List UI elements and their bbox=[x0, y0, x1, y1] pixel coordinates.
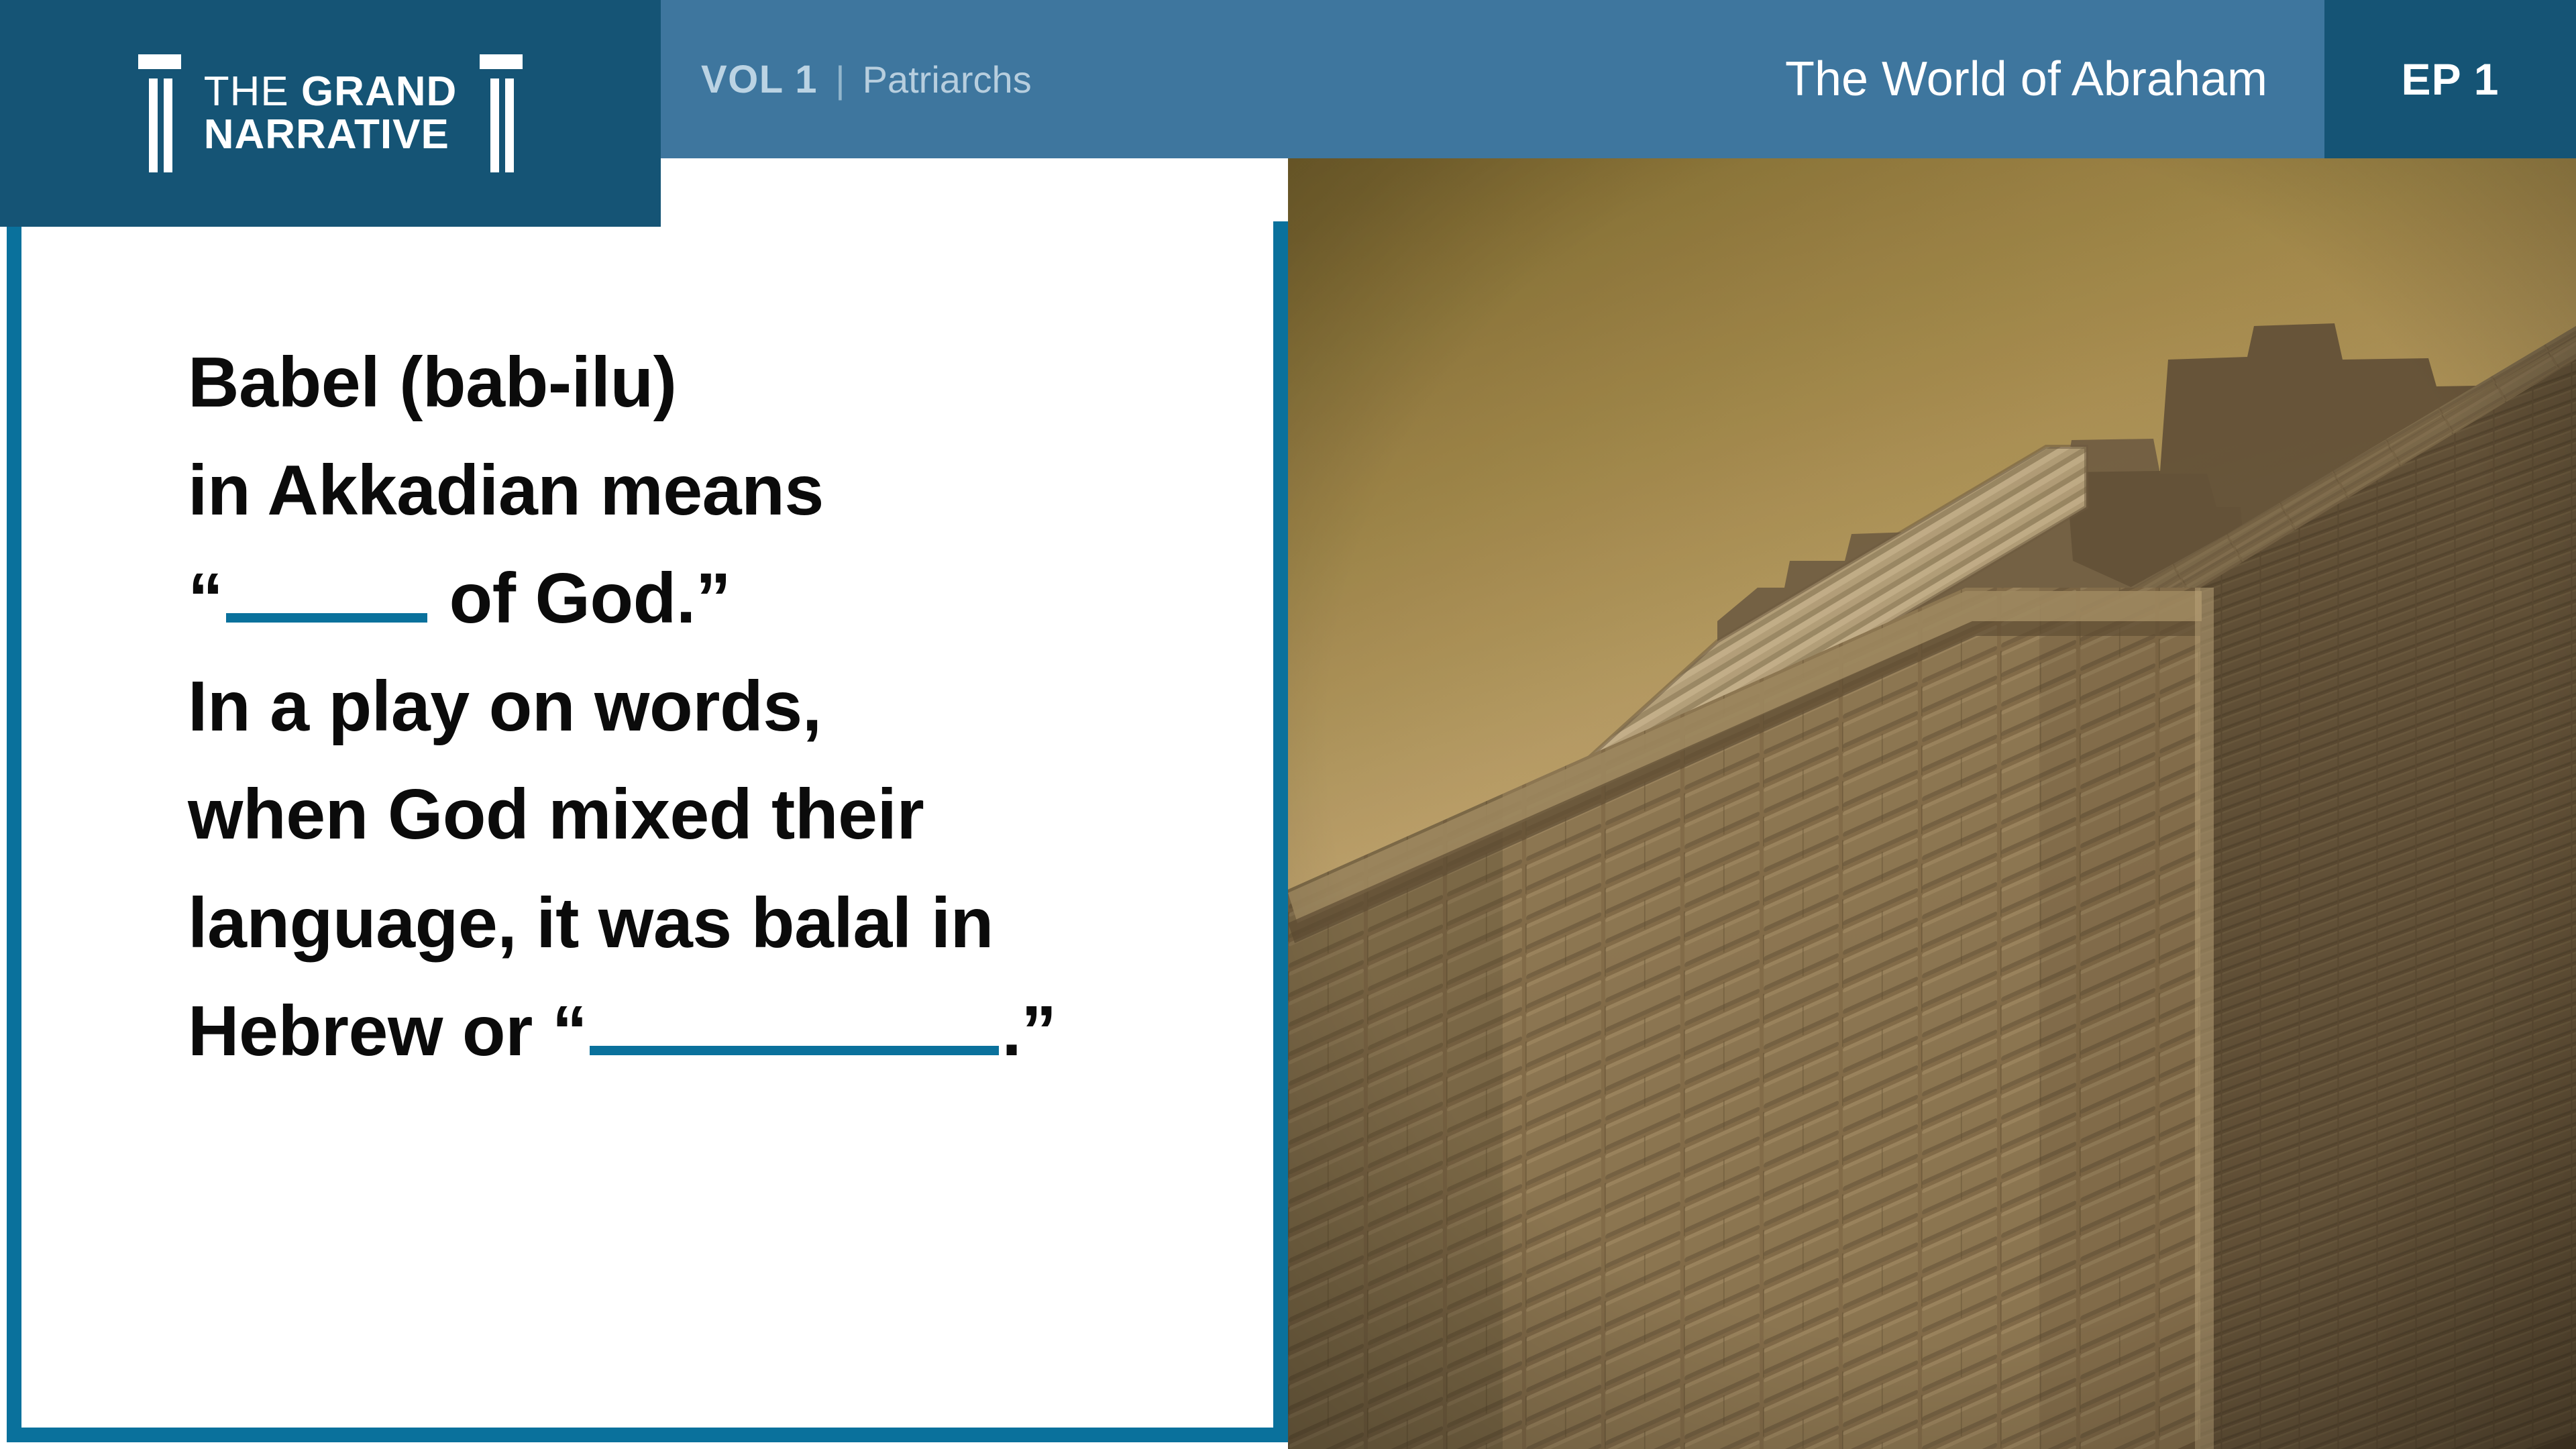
brand-grand: GRAND bbox=[301, 68, 457, 115]
text-line-1: Babel (bab-ilu) bbox=[188, 329, 1234, 437]
fill-in-the-blank-text: Babel (bab-ilu) in Akkadian means “ of G… bbox=[188, 329, 1234, 1085]
text-line-5: when God mixed their bbox=[188, 761, 1234, 869]
volume-label: VOL 1 bbox=[701, 57, 818, 102]
content-card: Babel (bab-ilu) in Akkadian means “ of G… bbox=[7, 221, 1288, 1442]
series-name: Patriarchs bbox=[863, 58, 1032, 101]
text-hebrew-or: Hebrew or “ bbox=[188, 991, 587, 1071]
pillar-icon-left bbox=[138, 54, 181, 172]
brand-logo-panel[interactable]: THE GRAND NARRATIVE bbox=[0, 0, 661, 227]
pillar-icon-right bbox=[480, 54, 523, 172]
episode-badge: EP 1 bbox=[2324, 0, 2576, 158]
volume-breadcrumb: VOL 1 | Patriarchs bbox=[701, 0, 1032, 158]
text-of-god: of God.” bbox=[430, 559, 731, 638]
blank-field-1[interactable] bbox=[226, 564, 427, 623]
blank-field-2[interactable] bbox=[590, 997, 999, 1055]
text-line-3: “ of God.” bbox=[188, 545, 1234, 653]
slide-root: THE GRAND NARRATIVE VOL 1 | Patriarchs T… bbox=[0, 0, 2576, 1449]
text-line-7: Hebrew or “.” bbox=[188, 977, 1234, 1085]
text-line-2: in Akkadian means bbox=[188, 437, 1234, 545]
quote-open-1: “ bbox=[188, 559, 223, 638]
breadcrumb-separator: | bbox=[835, 58, 845, 101]
ziggurat-illustration bbox=[1288, 158, 2576, 1449]
brand-narrative: NARRATIVE bbox=[204, 113, 458, 156]
ziggurat-photo bbox=[1288, 158, 2576, 1449]
episode-title: The World of Abraham bbox=[1785, 0, 2267, 158]
brand-the: THE bbox=[204, 68, 301, 115]
quote-close-2: .” bbox=[1002, 991, 1056, 1071]
text-line-4: In a play on words, bbox=[188, 653, 1234, 761]
episode-badge-label: EP 1 bbox=[2402, 54, 2500, 105]
text-line-6: language, it was balal in bbox=[188, 869, 1234, 977]
brand-wordmark: THE GRAND NARRATIVE bbox=[204, 70, 458, 157]
